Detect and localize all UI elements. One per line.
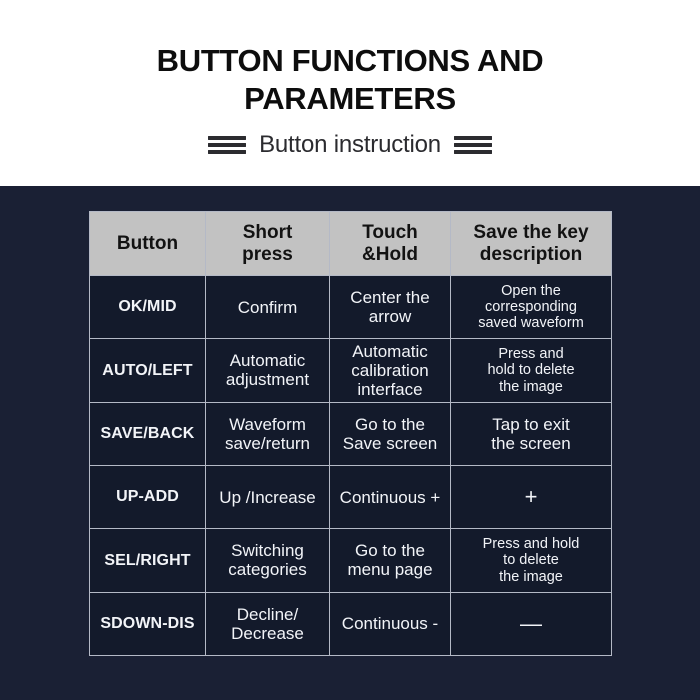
table-row: SAVE/BACK Waveform save/return Go to the… [90,402,612,465]
cell-save-key-description: Press and hold to delete the image [451,339,612,402]
column-header-button: Button [90,212,206,276]
table-header: Button Short press Touch &Hold Save the … [90,212,612,276]
button-functions-table: Button Short press Touch &Hold Save the … [89,211,612,656]
cell-short-press: Confirm [206,276,330,339]
cell-touch-hold: Continuous + [330,465,451,528]
cell-short-press: Decline/ Decrease [206,592,330,655]
column-header-short-press: Short press [206,212,330,276]
table-row: OK/MID Confirm Center the arrow Open the… [90,276,612,339]
cell-save-key-description: Open the corresponding saved waveform [451,276,612,339]
table-row: AUTO/LEFT Automatic adjustment Automatic… [90,339,612,402]
table-row: SDOWN-DIS Decline/ Decrease Continuous -… [90,592,612,655]
hamburger-bars-icon-right [454,136,492,154]
table-header-row: Button Short press Touch &Hold Save the … [90,212,612,276]
cell-button: SAVE/BACK [90,402,206,465]
cell-save-key-description: Tap to exit the screen [451,402,612,465]
subtitle-label: Button instruction [259,131,441,159]
column-header-save-key-description: Save the key description [451,212,612,276]
cell-button: SEL/RIGHT [90,529,206,592]
cell-save-key-description: — [451,592,612,655]
cell-short-press: Up /Increase [206,465,330,528]
cell-short-press: Automatic adjustment [206,339,330,402]
cell-button: SDOWN-DIS [90,592,206,655]
page-root: BUTTON FUNCTIONS AND PARAMETERS Button i… [0,0,700,700]
table-row: UP-ADD Up /Increase Continuous + + [90,465,612,528]
cell-save-key-description: Press and hold to delete the image [451,529,612,592]
cell-button: AUTO/LEFT [90,339,206,402]
header-band: BUTTON FUNCTIONS AND PARAMETERS Button i… [0,0,700,186]
cell-touch-hold: Center the arrow [330,276,451,339]
cell-button: UP-ADD [90,465,206,528]
cell-short-press: Switching categories [206,529,330,592]
cell-save-key-description: + [451,465,612,528]
button-functions-table-wrapper: Button Short press Touch &Hold Save the … [89,211,611,656]
table-row: SEL/RIGHT Switching categories Go to the… [90,529,612,592]
cell-button: OK/MID [90,276,206,339]
subtitle-row: Button instruction [208,131,492,159]
column-header-touch-hold: Touch &Hold [330,212,451,276]
cell-short-press: Waveform save/return [206,402,330,465]
page-title: BUTTON FUNCTIONS AND PARAMETERS [115,42,585,118]
table-body: OK/MID Confirm Center the arrow Open the… [90,276,612,656]
hamburger-bars-icon-left [208,136,246,154]
cell-touch-hold: Continuous - [330,592,451,655]
cell-touch-hold: Automatic calibration interface [330,339,451,402]
cell-touch-hold: Go to the Save screen [330,402,451,465]
cell-touch-hold: Go to the menu page [330,529,451,592]
